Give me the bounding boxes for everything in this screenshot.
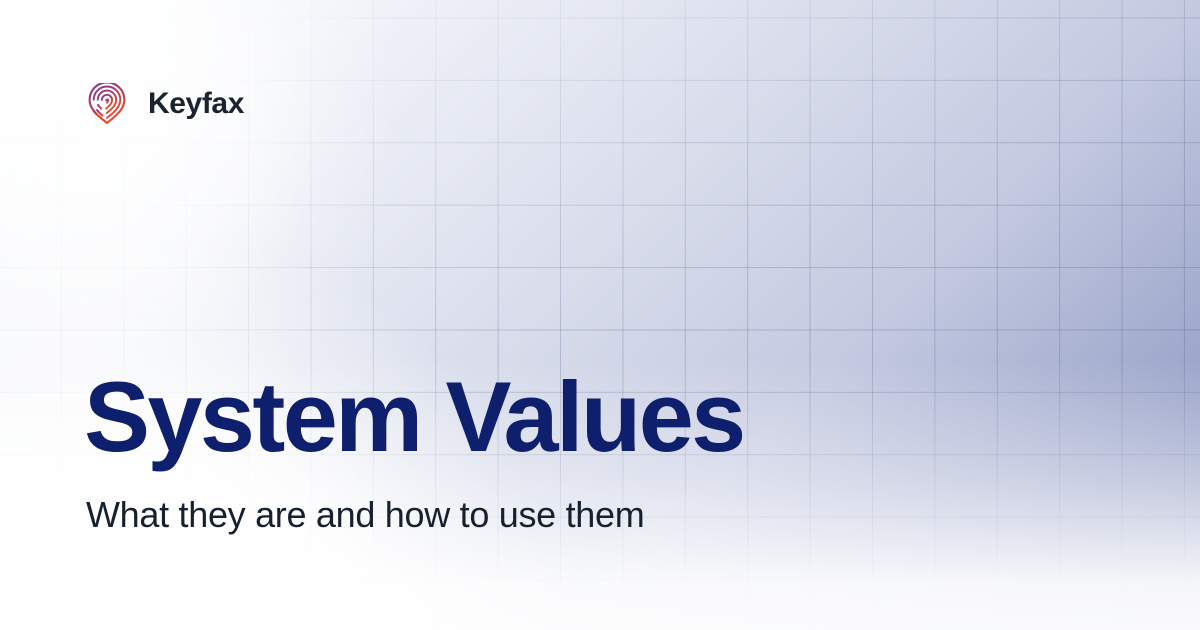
brand-lockup: Keyfax — [80, 77, 244, 131]
page-title: System Values — [84, 366, 1094, 469]
og-card: Keyfax System Values What they are and h… — [0, 0, 1200, 630]
page-subtitle: What they are and how to use them — [86, 493, 1094, 536]
hero-text-block: System Values What they are and how to u… — [84, 366, 1094, 536]
fingerprint-icon — [86, 83, 128, 125]
brand-name: Keyfax — [148, 89, 244, 119]
brand-logo-tile — [80, 77, 134, 131]
